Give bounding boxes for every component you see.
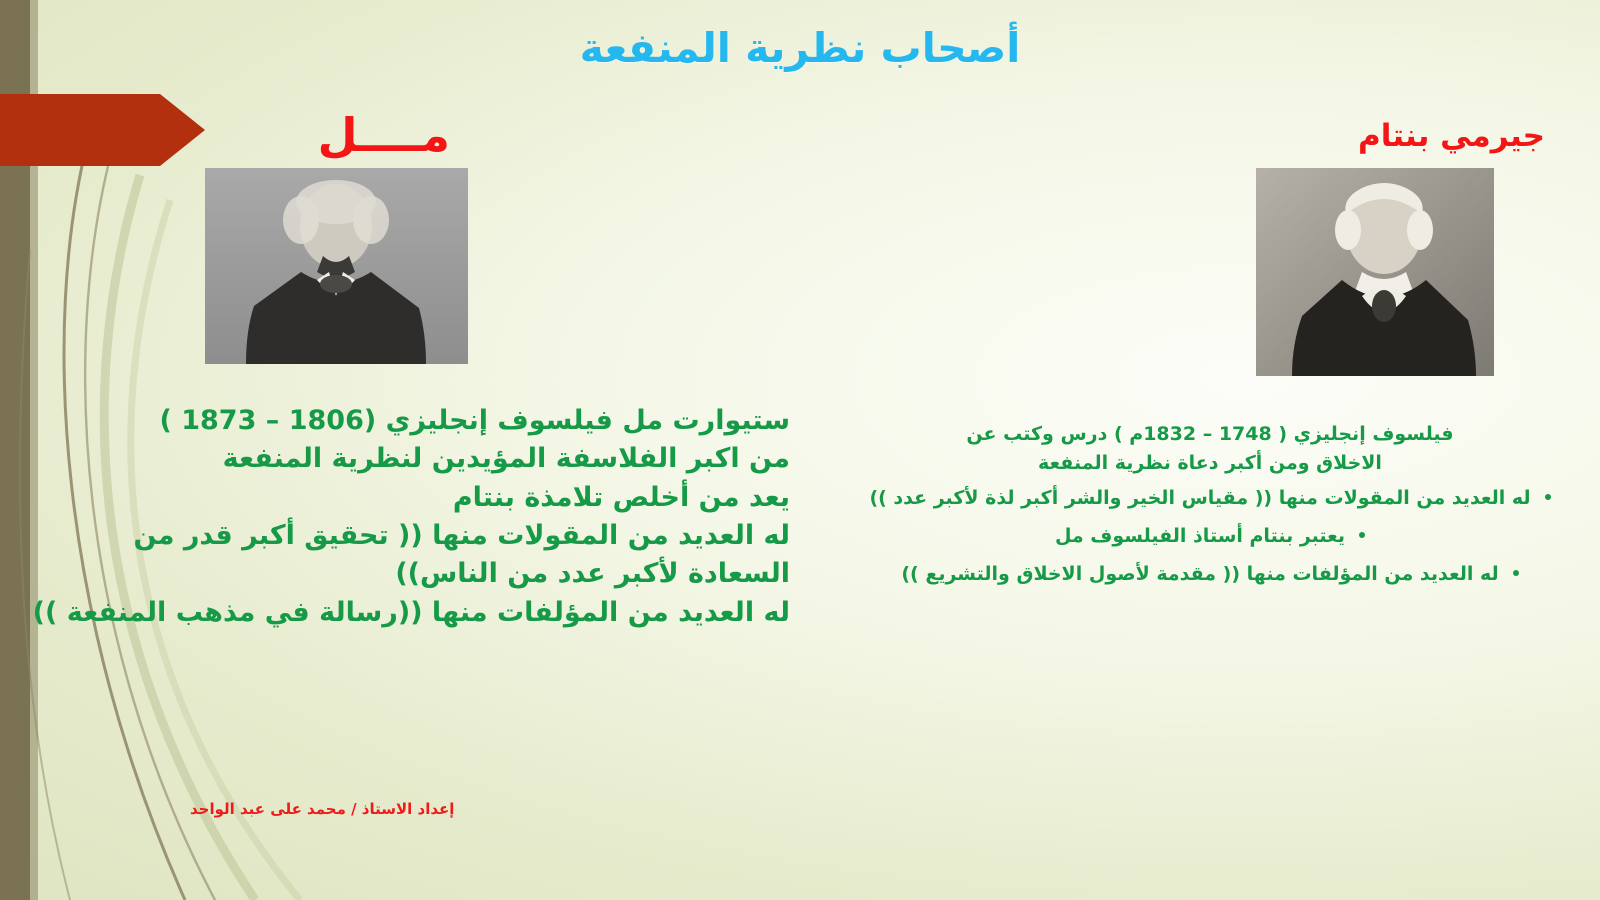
list-item: له العديد من المؤلفات منها (( مقدمة لأصو… <box>860 560 1560 589</box>
mill-text-block: ستيوارت مل فيلسوف إنجليزي (1806 – 1873 )… <box>60 402 790 632</box>
bullet-dot-icon <box>1513 570 1519 576</box>
bentham-bullet-3: له العديد من المؤلفات منها (( مقدمة لأصو… <box>901 563 1498 585</box>
page-title: أصحاب نظرية المنفعة <box>0 24 1600 72</box>
mill-line-6: له العديد من المؤلفات منها ((رسالة في مذ… <box>60 594 790 632</box>
bentham-lead-line-1: فيلسوف إنجليزي ( 1748 – 1832م ) درس وكتب… <box>860 420 1560 449</box>
bentham-text-block: فيلسوف إنجليزي ( 1748 – 1832م ) درس وكتب… <box>860 420 1560 597</box>
mill-line-5: السعادة لأكبر عدد من الناس)) <box>60 555 790 593</box>
mill-line-2: من اكبر الفلاسفة المؤيدين لنظرية المنفعة <box>60 440 790 478</box>
mill-line-4: له العديد من المقولات منها (( تحقيق أكبر… <box>60 517 790 555</box>
mill-line-1: ستيوارت مل فيلسوف إنجليزي (1806 – 1873 ) <box>60 402 790 440</box>
list-item: له العديد من المقولات منها (( مقياس الخي… <box>860 484 1560 513</box>
mill-portrait-image <box>205 168 468 364</box>
mill-line-3: يعد من أخلص تلامذة بنتام <box>60 479 790 517</box>
author-credit: إعداد الاستاذ / محمد على عبد الواحد <box>190 800 454 818</box>
bentham-lead-line-2: الاخلاق ومن أكبر دعاة نظرية المنفعة <box>860 449 1560 478</box>
bullet-dot-icon <box>1545 494 1551 500</box>
bentham-bullet-2: يعتبر بنتام أستاذ الفيلسوف مل <box>1055 525 1345 547</box>
list-item: يعتبر بنتام أستاذ الفيلسوف مل <box>860 522 1560 551</box>
bullet-dot-icon <box>1359 532 1365 538</box>
mill-heading: مــــل <box>318 108 450 162</box>
bentham-bullet-list: له العديد من المقولات منها (( مقياس الخي… <box>860 484 1560 589</box>
bentham-bullet-1: له العديد من المقولات منها (( مقياس الخي… <box>869 487 1530 509</box>
presentation-slide: أصحاب نظرية المنفعة مــــل جيرمي بنتام <box>0 0 1600 900</box>
bentham-portrait-image <box>1256 168 1494 376</box>
bentham-heading: جيرمي بنتام <box>1358 118 1545 154</box>
red-arrow-shape <box>0 94 205 166</box>
